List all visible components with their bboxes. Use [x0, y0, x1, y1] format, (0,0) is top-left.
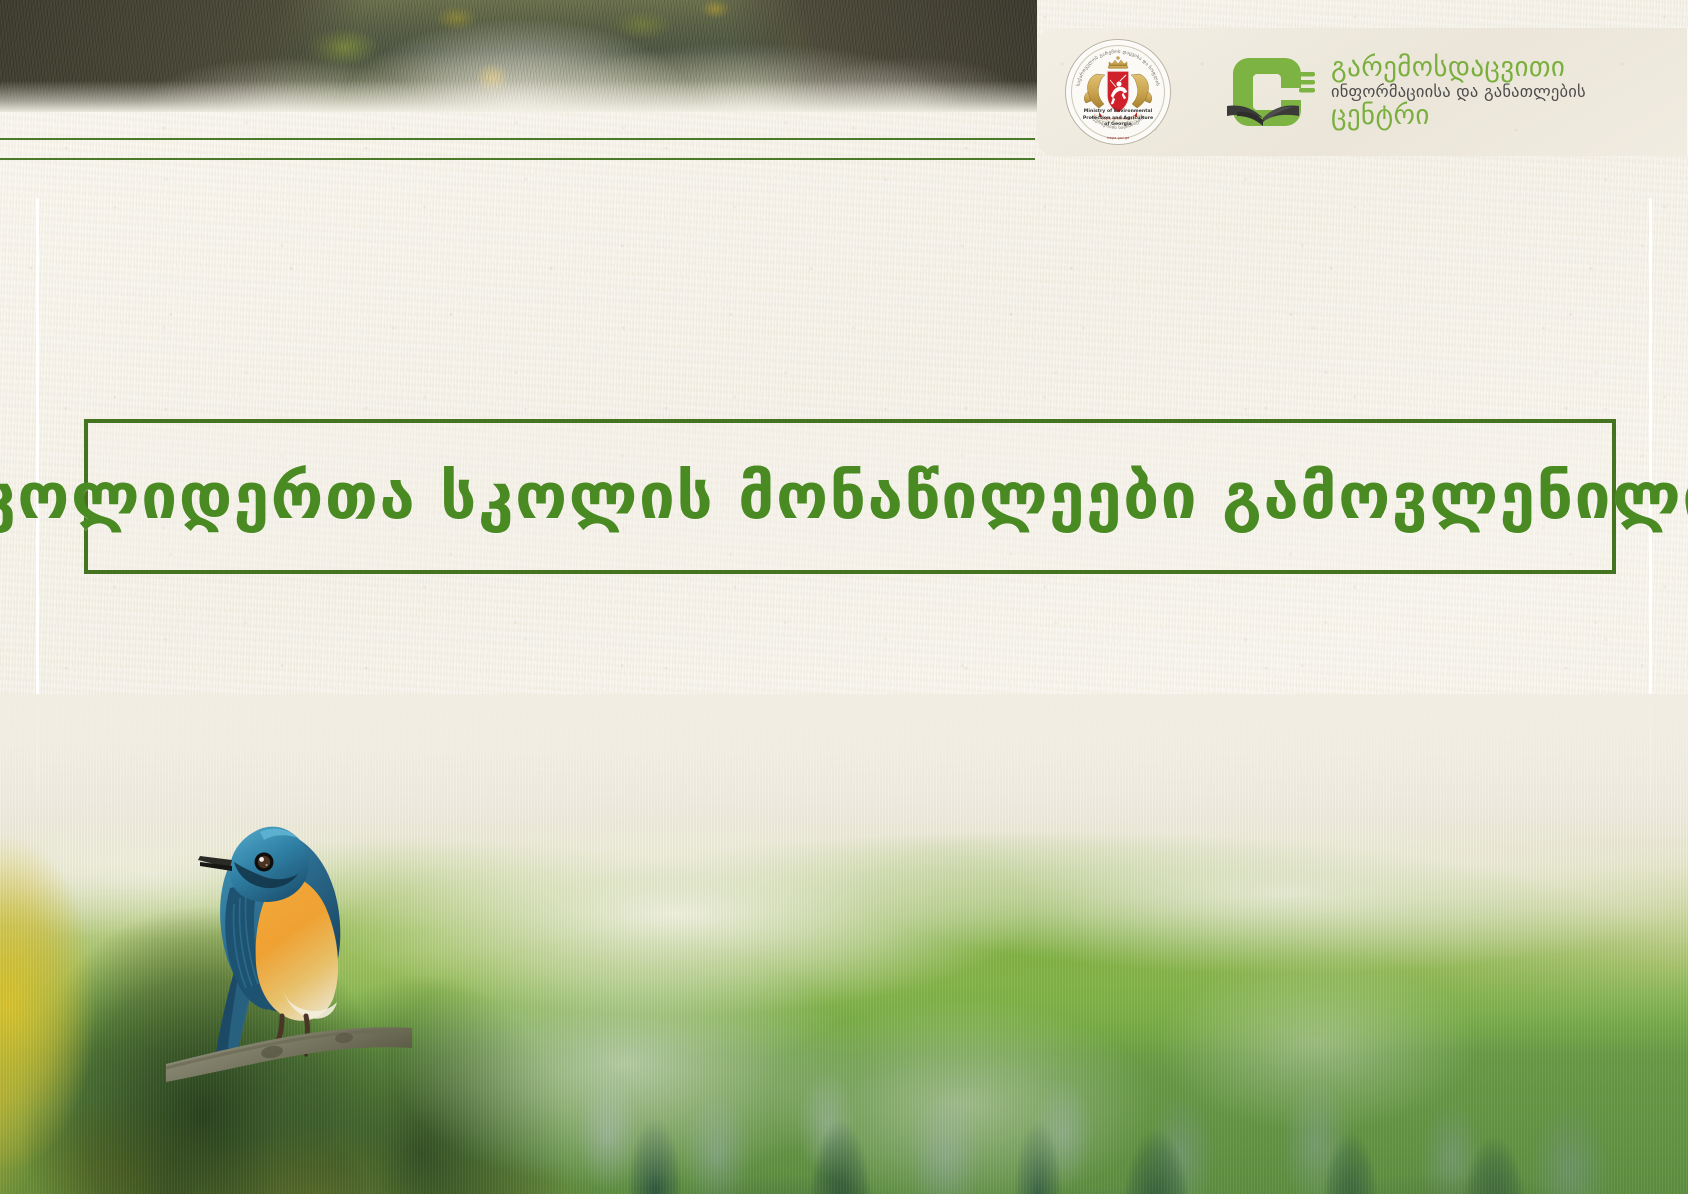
top-photo-bottom-fade [0, 0, 1037, 112]
header-rule-bottom [0, 158, 1035, 160]
top-forest-photo [0, 0, 1037, 112]
seal-url: mepa.gov.ge [1066, 136, 1170, 140]
eiec-logo-mark-icon [1219, 44, 1315, 140]
ministry-seal-icon: საქართველოს გარემოს დაცვისა და სოფლის მე… [1065, 39, 1171, 145]
eiec-logo: გარემოსდაცვითი ინფორმაციისა და განათლები… [1219, 44, 1586, 140]
eiec-line-3: ცენტრი [1331, 102, 1586, 130]
seal-english-caption: Ministry of EnvironmentalProtection and … [1066, 109, 1170, 129]
eiec-logo-text: გარემოსდაცვითი ინფორმაციისა და განათლები… [1331, 54, 1586, 130]
header-rule-top [0, 138, 1035, 140]
header-logo-card: საქართველოს გარემოს დაცვისა და სოფლის მე… [1037, 28, 1688, 156]
page-title: ეკოლიდერთა სკოლის მონაწილეები გამოვლენილ… [0, 465, 1688, 529]
poster-canvas: საქართველოს გარემოს დაცვისა და სოფლის მე… [0, 0, 1688, 1194]
eiec-line-1: გარემოსდაცვითი [1331, 54, 1586, 82]
eiec-line-2: ინფორმაციისა და განათლების [1331, 83, 1586, 101]
flycatcher-bird-image [176, 776, 406, 1076]
title-banner: ეკოლიდერთა სკოლის მონაწილეები გამოვლენილ… [84, 419, 1616, 574]
